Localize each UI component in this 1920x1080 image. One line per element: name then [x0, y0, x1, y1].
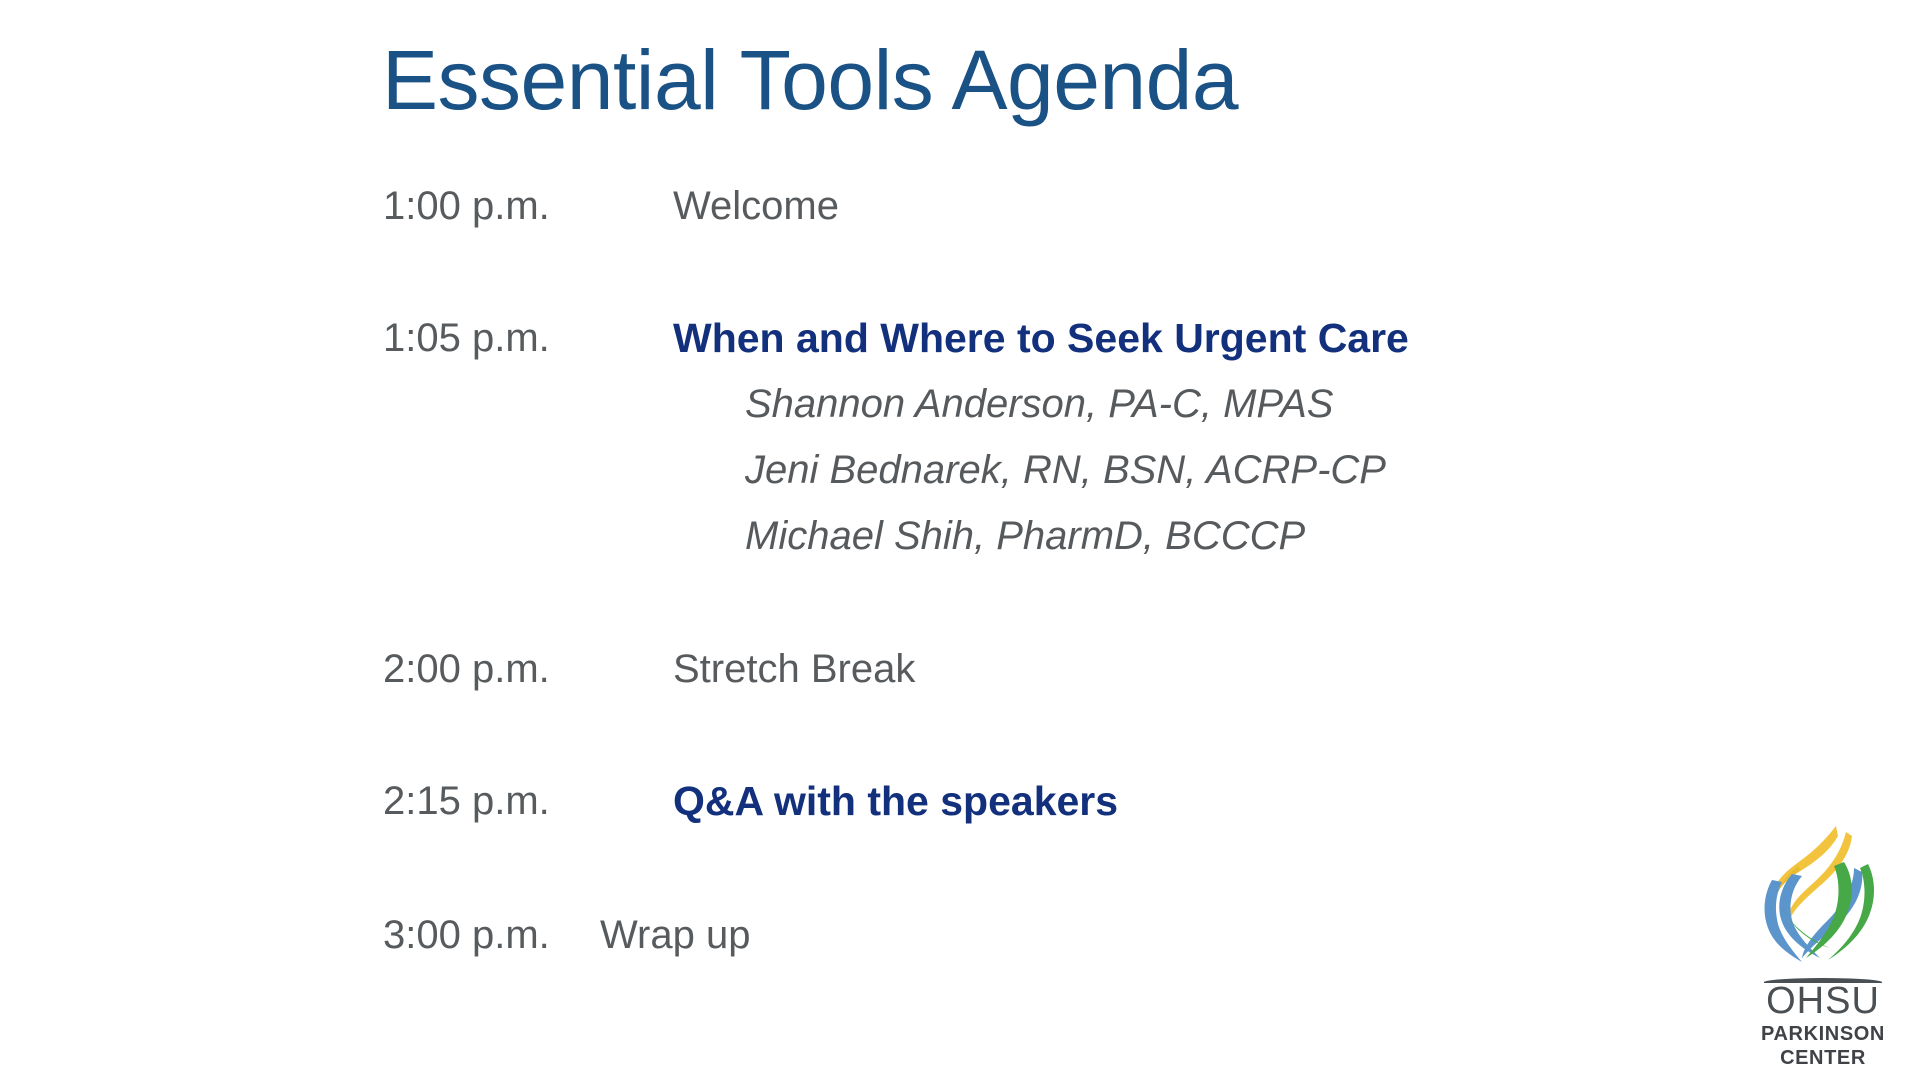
agenda-time: 1:05 p.m. — [383, 318, 550, 358]
agenda-description: Stretch Break — [673, 649, 915, 689]
page-title: Essential Tools Agenda — [382, 32, 1238, 129]
ohsu-parkinson-center-logo: OHSU PARKINSON CENTER — [1748, 822, 1898, 1062]
agenda-description: Welcome — [673, 186, 839, 226]
agenda-time: 2:00 p.m. — [383, 649, 550, 689]
agenda-session-title: When and Where to Seek Urgent Care — [673, 318, 1409, 359]
agenda-description: Wrap up — [600, 915, 750, 955]
logo-subtitle-center: CENTER — [1748, 1048, 1898, 1068]
agenda-time: 3:00 p.m. — [383, 915, 550, 955]
logo-wordmark: OHSU — [1748, 982, 1898, 1021]
ohsu-flame-helix-icon — [1758, 822, 1888, 972]
agenda-time: 2:15 p.m. — [383, 781, 550, 821]
agenda-speaker-name: Jeni Bednarek, RN, BSN, ACRP-CP — [745, 450, 1386, 490]
presentation-slide: Essential Tools Agenda 1:00 p.m.Welcome1… — [0, 0, 1920, 1080]
agenda-session-title: Q&A with the speakers — [673, 781, 1118, 822]
agenda-speaker-name: Michael Shih, PharmD, BCCCP — [745, 516, 1305, 556]
agenda-time: 1:00 p.m. — [383, 186, 550, 226]
agenda-speaker-name: Shannon Anderson, PA-C, MPAS — [745, 384, 1333, 424]
logo-subtitle-parkinson: PARKINSON — [1748, 1024, 1898, 1044]
